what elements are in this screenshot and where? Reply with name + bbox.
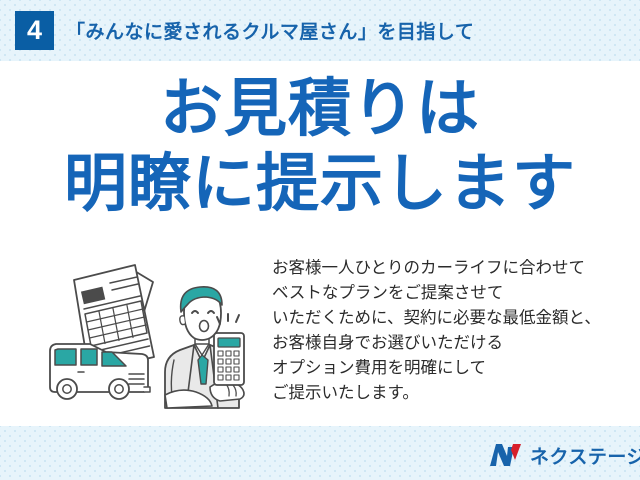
- headline: お見積りは 明瞭に提示します: [0, 78, 640, 216]
- body-line: いただくために、契約に必要な最低金額と、: [272, 306, 632, 331]
- section-number-badge: 4: [15, 11, 54, 50]
- body-line: お客様一人ひとりのカーライフに合わせて: [272, 256, 632, 281]
- calculator: [214, 333, 244, 385]
- header: 4 「みんなに愛されるクルマ屋さん」を目指して: [0, 0, 640, 61]
- body-line: ベストなプランをご提案させて: [272, 281, 632, 306]
- headline-line-2: 明瞭に提示します: [0, 153, 640, 216]
- promo-banner: 4 「みんなに愛されるクルマ屋さん」を目指して お見積りは 明瞭に提示します お…: [0, 0, 640, 480]
- header-title: 「みんなに愛されるクルマ屋さん」を目指して: [66, 17, 474, 44]
- body-line: オプション費用を明確にして: [272, 356, 632, 381]
- brand-logo: ネクステージ: [489, 443, 640, 472]
- illustration-salesman: [34, 256, 268, 418]
- body-line: ご提示いたします。: [272, 381, 632, 406]
- body-copy: お客様一人ひとりのカーライフに合わせて ベストなプランをご提案させて いただくた…: [272, 256, 632, 406]
- nextage-n-logo-icon: [489, 443, 523, 472]
- headline-line-1: お見積りは: [0, 78, 640, 141]
- brand-name: ネクステージ: [530, 448, 640, 467]
- body-line: お客様自身でお選びいただける: [272, 331, 632, 356]
